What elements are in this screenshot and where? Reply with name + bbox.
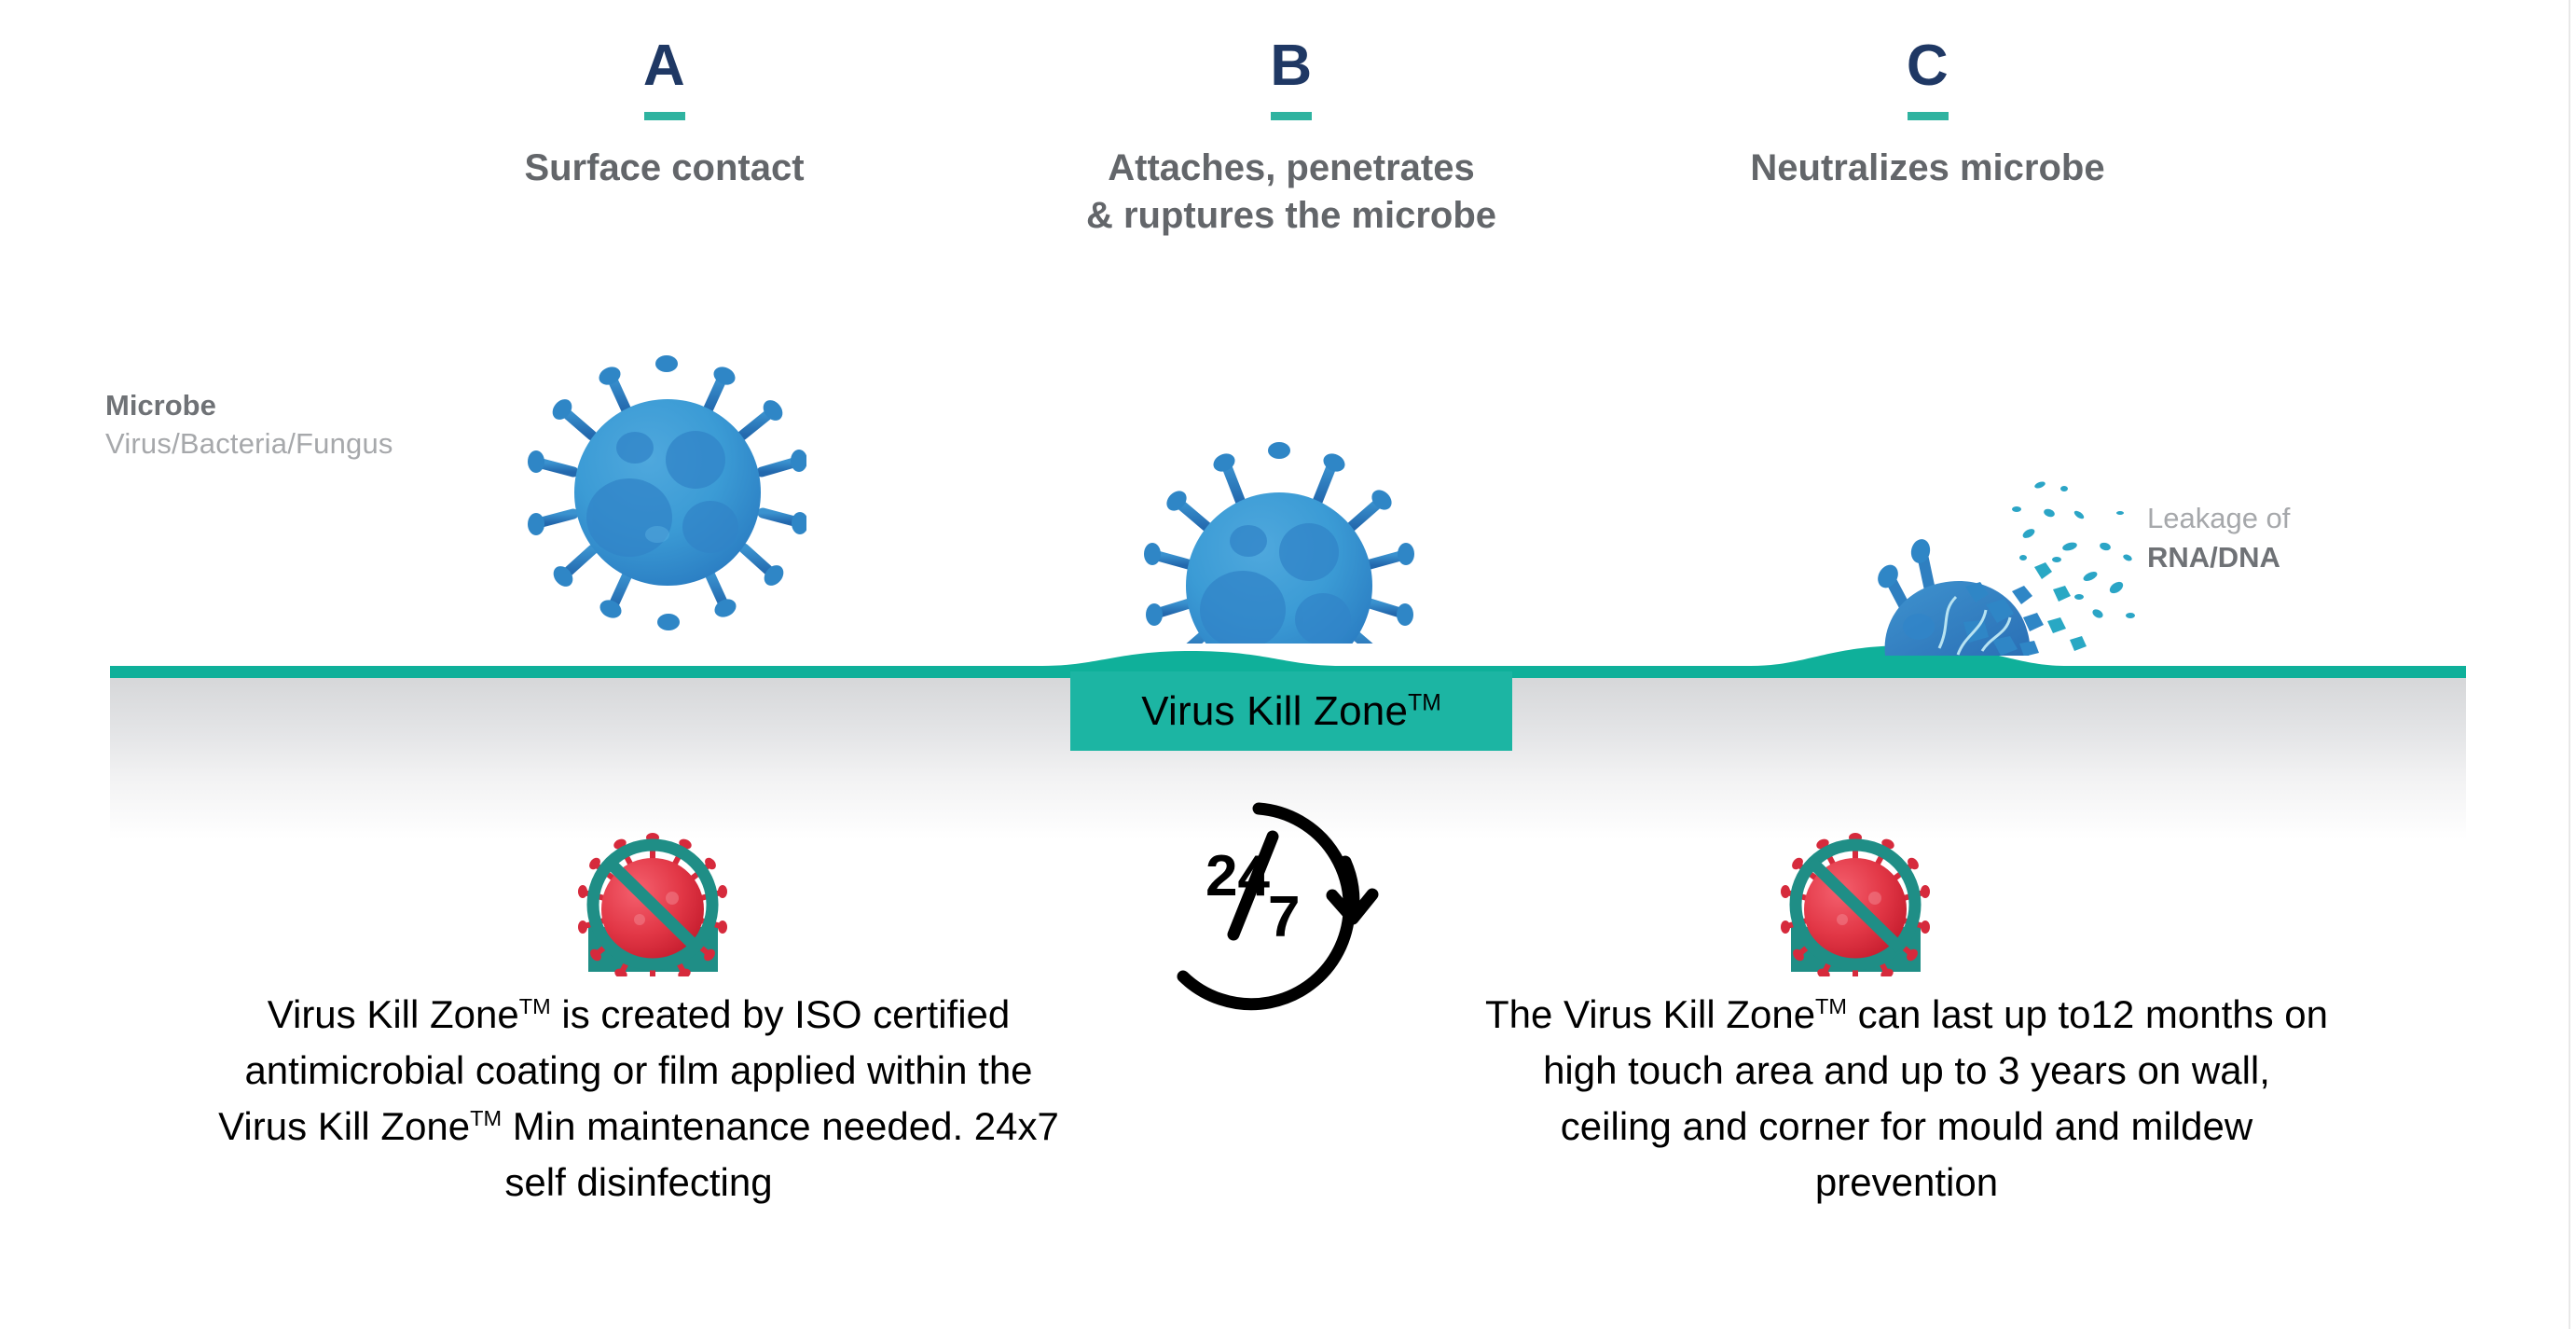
microbe-label: Microbe Virus/Bacteria/Fungus	[105, 387, 393, 464]
paragraph-left-seg4: Min maintenance needed. 24x7 self disinf…	[502, 1104, 1059, 1204]
step-rule-c	[1908, 112, 1949, 120]
step-header-a: A Surface contact	[522, 37, 806, 192]
virus-kill-zone-banner-label: Virus Kill ZoneTM	[1141, 688, 1440, 735]
always-on-icon: 24 7	[1133, 795, 1384, 1028]
paragraph-left-tm1: TM	[519, 994, 551, 1018]
no-virus-icon	[559, 804, 746, 976]
step-header-c: C Neutralizes microbe	[1674, 37, 2182, 192]
no-virus-icon-right	[1762, 804, 1949, 976]
paragraph-right-seg1: The Virus Kill Zone	[1485, 992, 1815, 1036]
always-on-denominator: 7	[1268, 885, 1300, 949]
step-letter-a: A	[522, 37, 806, 95]
virus-intact-icon	[527, 345, 806, 634]
step-title-c: Neutralizes microbe	[1674, 145, 2182, 192]
step-header-b: B Attaches, penetrates & ruptures the mi…	[1002, 37, 1580, 240]
virus-illustration-a	[527, 345, 806, 634]
paragraph-left-seg1: Virus Kill Zone	[268, 992, 519, 1036]
paragraph-left-seg3: Virus Kill Zone	[218, 1104, 470, 1148]
paragraph-right: The Virus Kill ZoneTM can last up to12 m…	[1389, 987, 2424, 1211]
virus-illustration-b	[1119, 410, 1440, 681]
step-title-a: Surface contact	[522, 145, 806, 192]
microbe-label-subtitle: Virus/Bacteria/Fungus	[105, 424, 393, 464]
virus-ruptured-icon	[1799, 457, 2172, 681]
no-virus-icon-left	[559, 804, 746, 976]
right-edge-line	[2569, 0, 2570, 1329]
paragraph-right-tm1: TM	[1815, 994, 1847, 1018]
step-rule-b	[1271, 112, 1312, 120]
no-virus-icon	[1762, 804, 1949, 976]
step-letter-b: B	[1002, 37, 1580, 95]
step-letter-c: C	[1674, 37, 2182, 95]
virus-penetrating-icon	[1119, 410, 1440, 681]
microbe-label-title: Microbe	[105, 387, 393, 424]
paragraph-left: Virus Kill ZoneTM is created by ISO cert…	[121, 987, 1156, 1211]
virus-illustration-c	[1799, 457, 2172, 681]
step-title-b: Attaches, penetrates & ruptures the micr…	[1002, 145, 1580, 240]
24-7-cycle-icon: 24 7	[1133, 795, 1384, 1028]
paragraph-left-tm2: TM	[470, 1106, 502, 1130]
step-rule-a	[644, 112, 685, 120]
virus-kill-zone-banner: Virus Kill ZoneTM	[1070, 671, 1512, 751]
